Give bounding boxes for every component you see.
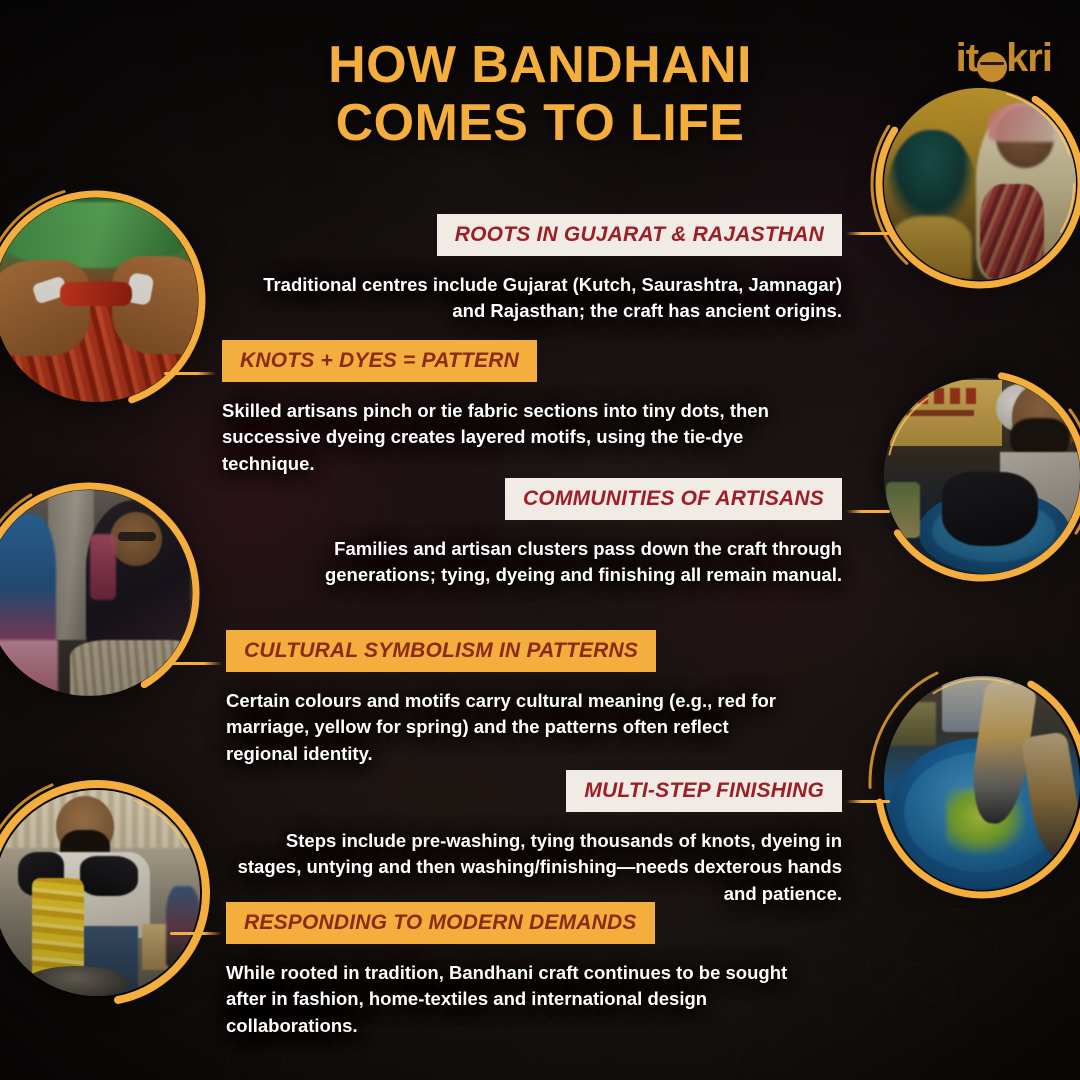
page-title: HOW BANDHANI COMES TO LIFE: [0, 36, 1080, 152]
heading-modern: RESPONDING TO MODERN DEMANDS: [226, 902, 655, 944]
photo-dyer-lifting-yellow: [0, 790, 200, 996]
logo-text-suffix: kri: [1006, 38, 1052, 78]
body-communities: Families and artisan clusters pass down …: [230, 536, 842, 589]
photo4-shade: [0, 490, 192, 696]
photo-women-artisans-seated: [0, 490, 192, 696]
block-knots: KNOTS + DYES = PATTERN Skilled artisans …: [222, 340, 782, 477]
photo-indigo-dye-vat: [884, 676, 1080, 890]
photo3-shade: [884, 378, 1080, 574]
body-knots: Skilled artisans pinch or tie fabric sec…: [222, 398, 782, 477]
logo-text-prefix: it: [956, 38, 978, 78]
block-modern: RESPONDING TO MODERN DEMANDS While roote…: [226, 902, 806, 1039]
body-finishing: Steps include pre-washing, tying thousan…: [230, 828, 842, 907]
logo-basket-icon: [977, 52, 1007, 82]
connector-symbolism: [170, 662, 222, 665]
photo-dyer-at-blue-vat: [884, 378, 1080, 574]
body-modern: While rooted in tradition, Bandhani craf…: [226, 960, 806, 1039]
title-line-2: COMES TO LIFE: [170, 94, 910, 152]
heading-communities: COMMUNITIES OF ARTISANS: [505, 478, 842, 520]
connector-finishing: [846, 800, 890, 803]
body-roots: Traditional centres include Gujarat (Kut…: [230, 272, 842, 325]
connector-modern: [170, 932, 222, 935]
photo5-shade: [884, 676, 1080, 890]
body-symbolism: Certain colours and motifs carry cultura…: [226, 688, 796, 767]
heading-roots: ROOTS IN GUJARAT & RAJASTHAN: [437, 214, 842, 256]
infographic-poster: itkri HOW BANDHANI COMES TO LIFE: [0, 0, 1080, 1080]
heading-symbolism: CULTURAL SYMBOLISM IN PATTERNS: [226, 630, 656, 672]
connector-roots: [846, 232, 890, 235]
block-symbolism: CULTURAL SYMBOLISM IN PATTERNS Certain c…: [226, 630, 796, 767]
photo6-shade: [0, 790, 200, 996]
connector-knots: [164, 372, 216, 375]
heading-finishing: MULTI-STEP FINISHING: [566, 770, 842, 812]
itokri-logo[interactable]: itkri: [956, 38, 1052, 78]
heading-knots: KNOTS + DYES = PATTERN: [222, 340, 537, 382]
title-line-1: HOW BANDHANI: [170, 36, 910, 94]
block-finishing: MULTI-STEP FINISHING Steps include pre-w…: [230, 770, 842, 907]
block-roots: ROOTS IN GUJARAT & RAJASTHAN Traditional…: [230, 214, 842, 325]
block-communities: COMMUNITIES OF ARTISANS Families and art…: [230, 478, 842, 589]
connector-communities: [846, 510, 890, 513]
